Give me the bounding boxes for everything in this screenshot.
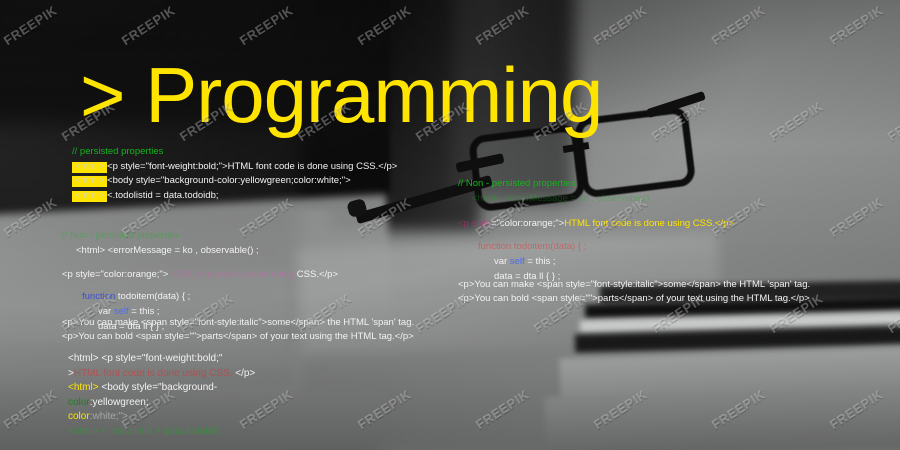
code-block-persisted: // persisted properties <html><p style="… — [72, 145, 397, 203]
keyword-function: function — [82, 291, 115, 302]
code-text: <body style="background-color:yellowgree… — [107, 175, 351, 186]
code-text: :yellowgreen; — [90, 397, 149, 408]
title-prompt-caret: > — [80, 51, 125, 139]
code-line-todolistid: <html> < .todolistid = data.todoidb; — [68, 425, 255, 440]
html-tag-chip: <html> — [72, 176, 107, 187]
code-comment-non-persisted: // Non - persisted properties — [62, 228, 338, 243]
code-line-color-yellowgreen: color:yellowgreen; — [68, 396, 255, 411]
code-text: <body style="background- — [99, 382, 218, 393]
code-line-body-background: <html> <body style="background- — [68, 381, 255, 396]
code-text-magenta: <p style — [458, 218, 491, 229]
property-color-green: color — [68, 397, 90, 408]
code-comment-non-persisted-right: // Non - persisted properties — [458, 176, 734, 191]
code-text: ="color:orange;"> — [491, 218, 564, 229]
code-text: :white;"> — [90, 411, 128, 422]
code-block-non-persisted-right: // Non - persisted properties <html> <er… — [458, 176, 734, 284]
code-row: <html><body style="background-color:yell… — [72, 174, 397, 189]
html-tag-yellow: <html> — [68, 382, 99, 393]
code-row: <html><.todolistid = data.todoidb; — [72, 189, 397, 204]
code-line-color-white: color:white;"> — [68, 410, 255, 425]
code-line-red: >HTML font code is done using CSS. </p> — [68, 367, 255, 382]
code-text: todoitem(data) { ; — [118, 291, 190, 302]
code-line-span-bold: <p>You can bold <span style="">parts</sp… — [62, 330, 414, 344]
property-color-yellow: color — [68, 411, 90, 422]
code-line-paragraph-orange-right: <p style="color:orange;">HTML font code … — [458, 216, 734, 231]
code-block-paragraphs-right: <p>You can make <span style="font-style:… — [458, 278, 810, 306]
code-line-paragraph-orange: <p style="color:orange;">HTML font code … — [62, 267, 338, 282]
code-line-html-p: <html> <p style="font-weight:bold;" — [68, 352, 255, 367]
html-tag-chip: <html> — [72, 162, 107, 173]
code-line-span-italic: <p>You can make <span style="font-style:… — [62, 316, 414, 330]
code-line-var-self-right: var self = this ; — [458, 254, 734, 269]
code-text: CSS.</p> — [294, 269, 338, 280]
code-text: <p style="color:orange;"> — [62, 269, 168, 280]
code-text-yellow: HTML font code is done using CSS.</p> — [564, 218, 734, 229]
identifier-self: self — [510, 256, 525, 267]
code-line-function: function todoitem(data) { ; — [62, 289, 338, 304]
code-text: <.todolistid = data.todoidb; — [107, 190, 218, 201]
code-text-red: HTML font code is done using CSS. — [74, 368, 233, 379]
keyword-var: var — [494, 256, 507, 267]
code-comment-persisted: // persisted properties — [72, 145, 397, 160]
code-block-colored-bottom: <html> <p style="font-weight:bold;" >HTM… — [68, 352, 255, 440]
code-line-errormessage: <html> <errorMessage = ko , observable()… — [62, 243, 338, 258]
html-tag-chip: <html> — [72, 191, 107, 202]
code-row: <html><p style="font-weight:bold;">HTML … — [72, 160, 397, 175]
code-line-errormessage-right: <html> <errorMessage = ko , observable()… — [458, 191, 734, 206]
code-line-span-bold-right: <p>You can bold <span style="">parts</sp… — [458, 292, 810, 306]
code-block-paragraphs-left: <p>You can make <span style="font-style:… — [62, 316, 414, 344]
code-text: = this ; — [527, 256, 555, 267]
code-text: </p> — [232, 368, 255, 379]
code-text-pink: HTML font code is done using — [168, 269, 294, 280]
code-text: <p style="font-weight:bold;">HTML font c… — [107, 161, 397, 172]
page-title: > Programming — [80, 58, 602, 132]
programming-banner: > Programming // persisted properties <h… — [0, 0, 900, 450]
code-text: > — [68, 368, 74, 379]
code-line-span-italic-right: <p>You can make <span style="font-style:… — [458, 278, 810, 292]
code-line-function-right: function todoitem(data) { ; — [458, 239, 734, 254]
title-text: Programming — [145, 51, 602, 139]
